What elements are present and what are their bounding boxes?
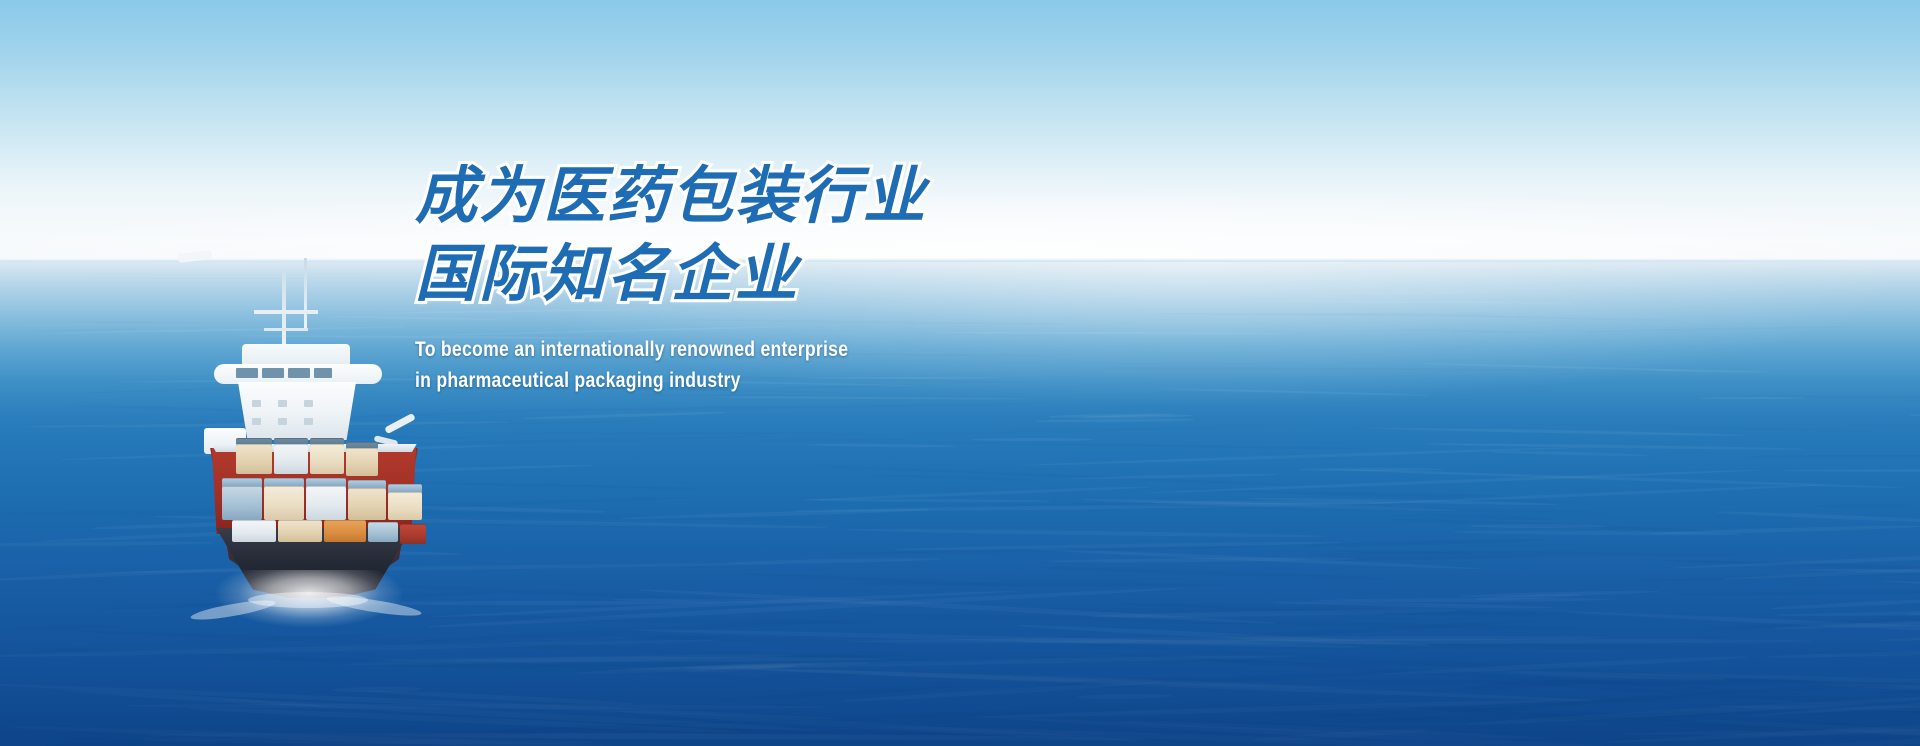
cargo-container bbox=[232, 520, 276, 542]
ship-porthole bbox=[252, 400, 261, 407]
ship-superstructure bbox=[238, 382, 356, 440]
cargo-container bbox=[324, 520, 366, 542]
ship-bridge-window bbox=[288, 368, 310, 378]
cargo-container bbox=[348, 488, 386, 520]
ship-porthole bbox=[278, 418, 287, 425]
subtitle-en: To become an internationally renowned en… bbox=[415, 334, 1315, 396]
ship-porthole bbox=[278, 400, 287, 407]
hero-banner: 成为医药包装行业 国际知名企业 To become an internation… bbox=[0, 0, 1920, 746]
cargo-container bbox=[388, 492, 422, 520]
ship-porthole bbox=[304, 418, 313, 425]
headline-cn-line-2: 国际知名企业 bbox=[415, 238, 1315, 312]
cargo-container bbox=[346, 448, 378, 476]
ship-crane bbox=[384, 413, 416, 434]
wake-streak bbox=[248, 592, 368, 608]
ship-porthole bbox=[304, 400, 313, 407]
ship-mast-crossbar-lower bbox=[264, 328, 308, 331]
cargo-container bbox=[368, 522, 398, 542]
ship-bridge-window bbox=[236, 368, 258, 378]
cargo-container bbox=[306, 486, 346, 520]
ship-mast-crossbar bbox=[254, 310, 318, 314]
ship-bridge-window bbox=[314, 368, 332, 378]
headline-cn-line-1: 成为医药包装行业 bbox=[415, 160, 1315, 234]
subtitle-en-line-2: in pharmaceutical packaging industry bbox=[415, 365, 1171, 396]
cargo-container bbox=[222, 486, 262, 520]
cargo-container bbox=[264, 486, 304, 520]
subtitle-en-line-1: To become an internationally renowned en… bbox=[415, 334, 1171, 365]
cargo-container bbox=[310, 444, 344, 474]
ship-radar-icon bbox=[178, 250, 213, 263]
ship-aft-mast bbox=[304, 258, 307, 330]
cargo-container bbox=[236, 444, 272, 474]
ship-bridge-window bbox=[262, 368, 284, 378]
cargo-container bbox=[274, 444, 308, 474]
banner-copy: 成为医药包装行业 国际知名企业 To become an internation… bbox=[415, 160, 1315, 396]
cargo-container bbox=[400, 524, 426, 544]
ship-porthole bbox=[252, 418, 261, 425]
cargo-container bbox=[278, 520, 322, 542]
